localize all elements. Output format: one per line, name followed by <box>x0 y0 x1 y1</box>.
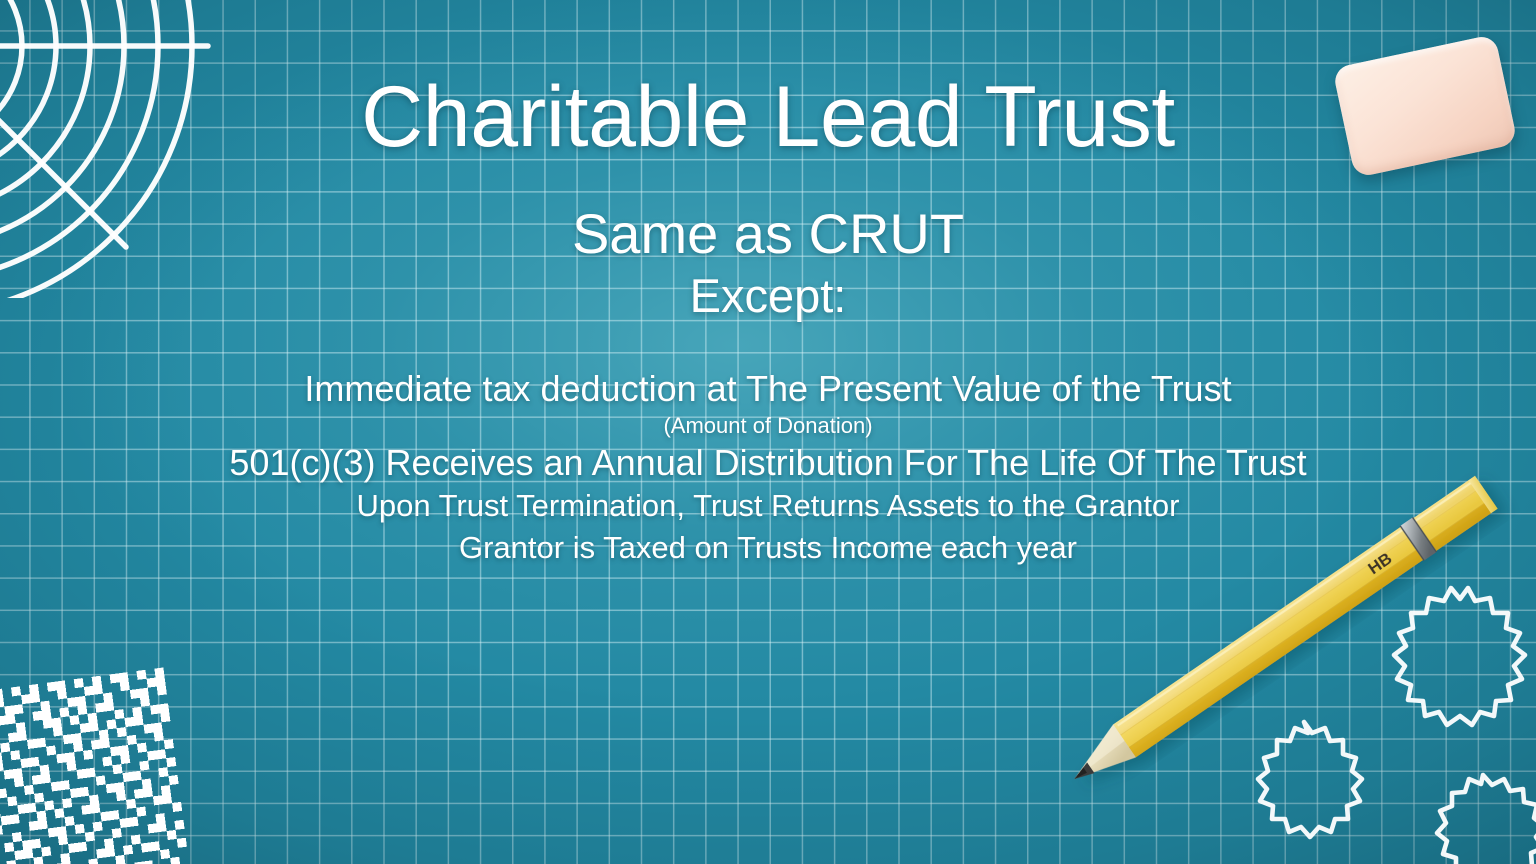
page-title: Charitable Lead Trust <box>0 74 1536 160</box>
body-line-grantor-taxed: Grantor is Taxed on Trusts Income each y… <box>0 527 1536 569</box>
slide-canvas: HB Charitable Lead Trust Same as CRUT Ex… <box>0 0 1536 864</box>
body-line-immediate-tax-deduction: Immediate tax deduction at The Present V… <box>0 367 1536 411</box>
subtitle-same-as-crut: Same as CRUT <box>0 206 1536 262</box>
body-line-501c3-annual-distribution: 501(c)(3) Receives an Annual Distributio… <box>0 441 1536 485</box>
body-text-block: Immediate tax deduction at The Present V… <box>0 367 1536 569</box>
subtitle-except: Except: <box>0 272 1536 319</box>
body-line-trust-termination: Upon Trust Termination, Trust Returns As… <box>0 485 1536 527</box>
slide-text-layer: Charitable Lead Trust Same as CRUT Excep… <box>0 0 1536 864</box>
body-line-amount-of-donation: (Amount of Donation) <box>0 411 1536 441</box>
